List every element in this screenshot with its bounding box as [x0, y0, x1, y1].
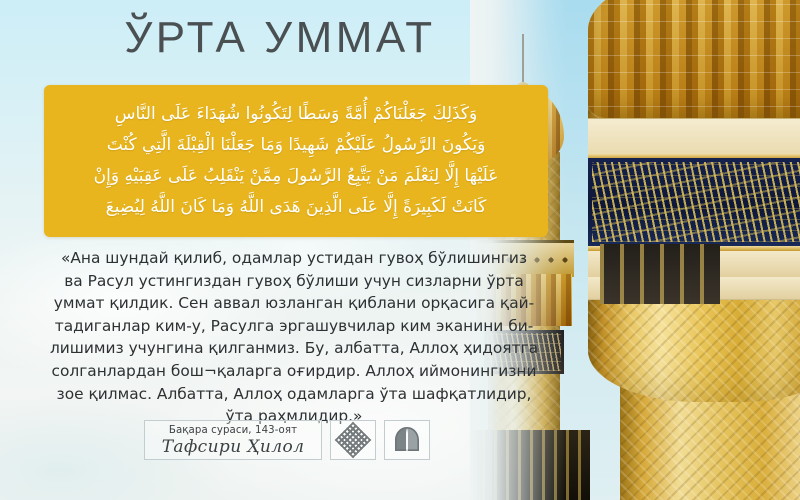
arabic-line: كَانَتْ لَكَبِيرَةً إِلَّا عَلَى الَّذِي… — [106, 192, 487, 223]
dome-calligraphy-band — [588, 158, 800, 246]
arabic-line: وَيَكُونَ الرَّسُولُ عَلَيْكُمْ شَهِيدًا… — [107, 130, 486, 161]
brand-name: Тафсири Ҳилол — [162, 437, 305, 457]
translation-text: «Ана шундай қилиб, одамлар устидан гувоҳ… — [34, 247, 554, 428]
source-reference: Бақара сураси, 143-оят — [169, 425, 297, 436]
page-title: ЎРТА УММАТ — [0, 14, 560, 62]
dome-arcade — [600, 244, 720, 304]
book-logo-box — [384, 420, 430, 460]
translation-line: тадиганлар ким-у, Расулга эргашувчилар к… — [34, 315, 554, 338]
arabic-line: وَكَذَلِكَ جَعَلْنَاكُمْ أُمَّةً وَسَطًا… — [115, 99, 477, 130]
arabic-line: عَلَيْهَا إِلَّا لِنَعْلَمَ مَنْ يَتَّبِ… — [94, 161, 499, 192]
translation-line: уммат қилдик. Сен аввал юзланган қиблани… — [34, 292, 554, 315]
kufic-logo-box — [330, 420, 376, 460]
muqarnas-rows — [588, 0, 800, 120]
kufic-calligraphy-icon — [335, 422, 372, 459]
translation-line: зое қилмас. Албатта, Аллоҳ одамларга ўта… — [34, 383, 554, 406]
translation-line: солганлардан бош¬қаларга оғирдир. Аллоҳ … — [34, 360, 554, 383]
arabic-verse-panel: وَكَذَلِكَ جَعَلْنَاكُمْ أُمَّةً وَسَطًا… — [44, 85, 548, 237]
translation-line: ва Расул устингиздан гувоҳ бўлиши учун с… — [34, 270, 554, 293]
open-book-icon — [394, 426, 420, 454]
source-citation-box: Бақара сураси, 143-оят Тафсири Ҳилол — [144, 420, 322, 460]
poster: ЎРТА УММАТ وَكَذَلِكَ جَعَلْنَاكُمْ أُمَ… — [0, 0, 800, 500]
footer: Бақара сураси, 143-оят Тафсири Ҳилол — [144, 420, 430, 460]
muqarnas-ring — [588, 0, 800, 120]
translation-line: лишимиз учунгина қилганмиз. Бу, албатта,… — [34, 337, 554, 360]
translation-line: «Ана шундай қилиб, одамлар устидан гувоҳ… — [34, 247, 554, 270]
